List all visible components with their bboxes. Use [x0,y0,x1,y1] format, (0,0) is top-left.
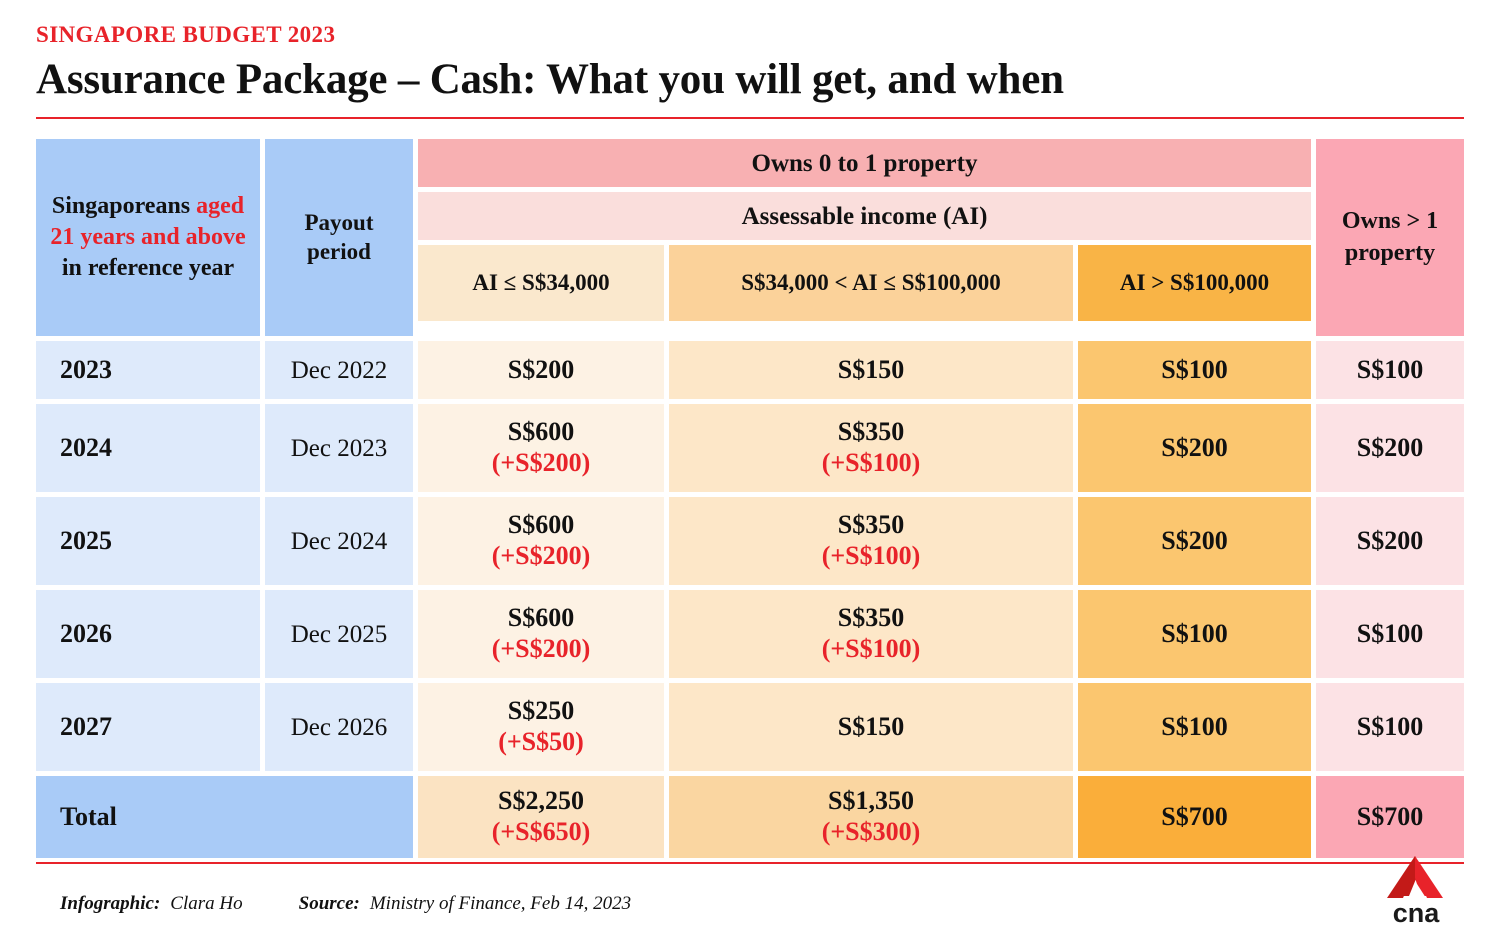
amount-increment: (+S$650) [492,817,591,848]
row-year: 2027 [36,683,260,771]
amount-main: S$150 [838,355,904,386]
kicker-label: SINGAPORE BUDGET 2023 [36,0,1464,48]
top-rule [36,117,1464,119]
row-amount-band-mid: S$350 (+S$100) [669,497,1073,585]
infographic-label: Infographic: [60,893,160,915]
col1-part1: Singaporeans [52,193,190,219]
income-band-header-high: AI > S$100,000 [1078,245,1311,321]
amount-main: S$350 [838,603,904,634]
row-payout-period: Dec 2022 [265,341,413,399]
amount-increment: (+S$300) [822,817,921,848]
row-amount-band-low: S$250 (+S$50) [418,683,664,771]
amount-main: S$350 [838,510,904,541]
amount-main: S$100 [1357,355,1423,386]
amount-main: S$250 [508,696,574,727]
row-amount-band-mid: S$350 (+S$100) [669,404,1073,492]
amount-main: S$200 [1161,526,1227,557]
source-credit: Source: Ministry of Finance, Feb 14, 202… [299,893,631,915]
amount-main: S$100 [1161,355,1227,386]
row-amount-multi-property: S$100 [1316,341,1464,399]
amount-main: S$100 [1357,619,1423,650]
income-band-header-low: AI ≤ S$34,000 [418,245,664,321]
total-label: Total [36,776,413,858]
row-amount-band-mid: S$150 [669,341,1073,399]
amount-main: S$100 [1161,712,1227,743]
amount-main: S$600 [508,417,574,448]
amount-increment: (+S$100) [822,448,921,479]
row-amount-band-mid: S$150 [669,683,1073,771]
total-amount-band-mid: S$1,350 (+S$300) [669,776,1073,858]
source-value: Ministry of Finance, Feb 14, 2023 [370,893,631,915]
row-amount-multi-property: S$100 [1316,590,1464,678]
group-subheader-assessable-income: Assessable income (AI) [418,192,1311,240]
amount-main: S$200 [1357,526,1423,557]
amount-main: S$600 [508,603,574,634]
cna-a-mark-icon [1387,856,1443,898]
amount-main: S$700 [1161,802,1227,833]
income-band-header-mid: S$34,000 < AI ≤ S$100,000 [669,245,1073,321]
row-amount-band-high: S$100 [1078,683,1311,771]
amount-main: S$100 [1161,619,1227,650]
footer-credits: Infographic: Clara Ho Source: Ministry o… [60,893,631,915]
row-year: 2024 [36,404,260,492]
row-payout-period: Dec 2024 [265,497,413,585]
infographic-credit: Infographic: Clara Ho [60,893,243,915]
column-header-payout-period: Payout period [265,139,413,336]
amount-increment: (+S$100) [822,634,921,665]
row-payout-period: Dec 2026 [265,683,413,771]
row-year: 2023 [36,341,260,399]
row-amount-band-mid: S$350 (+S$100) [669,590,1073,678]
row-amount-multi-property: S$200 [1316,404,1464,492]
amount-increment: (+S$200) [492,541,591,572]
income-band-headers: AI ≤ S$34,000 S$34,000 < AI ≤ S$100,000 … [418,245,1311,321]
column-header-singaporeans: Singaporeans aged 21 years and above in … [36,139,260,336]
amount-main: S$700 [1357,802,1423,833]
row-amount-band-high: S$100 [1078,590,1311,678]
row-amount-band-high: S$200 [1078,404,1311,492]
amount-main: S$350 [838,417,904,448]
cna-logo-svg: cna [1368,854,1464,926]
cna-wordmark: cna [1393,898,1441,926]
table-row: 2026 Dec 2025 S$600 (+S$200) S$350 (+S$1… [36,590,1464,678]
amount-main: S$150 [838,712,904,743]
table-row: 2024 Dec 2023 S$600 (+S$200) S$350 (+S$1… [36,404,1464,492]
amount-main: S$200 [508,355,574,386]
amount-main: S$600 [508,510,574,541]
col1-part3: in reference year [62,255,234,281]
row-amount-band-high: S$200 [1078,497,1311,585]
row-amount-band-low: S$600 (+S$200) [418,497,664,585]
row-payout-period: Dec 2023 [265,404,413,492]
source-label: Source: [299,893,360,915]
total-amount-band-high: S$700 [1078,776,1311,858]
amount-increment: (+S$200) [492,634,591,665]
total-amount-multi-property: S$700 [1316,776,1464,858]
row-year: 2025 [36,497,260,585]
amount-increment: (+S$100) [822,541,921,572]
amount-increment: (+S$200) [492,448,591,479]
amount-main: S$100 [1357,712,1423,743]
row-year: 2026 [36,590,260,678]
amount-main: S$2,250 [498,786,584,817]
total-amount-band-low: S$2,250 (+S$650) [418,776,664,858]
group-header-owns-0-to-1: Owns 0 to 1 property [418,139,1311,187]
row-amount-band-low: S$600 (+S$200) [418,404,664,492]
amount-main: S$200 [1161,433,1227,464]
table-row: 2027 Dec 2026 S$250 (+S$50) S$150 S$100 … [36,683,1464,771]
table-row: 2025 Dec 2024 S$600 (+S$200) S$350 (+S$1… [36,497,1464,585]
column-header-owns-more-than-1: Owns > 1 property [1316,139,1464,336]
row-amount-band-high: S$100 [1078,341,1311,399]
income-group-header: Owns 0 to 1 property Assessable income (… [418,139,1311,336]
infographic-page: SINGAPORE BUDGET 2023 Assurance Package … [0,0,1500,934]
bottom-rule [36,862,1464,864]
row-amount-band-low: S$200 [418,341,664,399]
row-payout-period: Dec 2025 [265,590,413,678]
row-amount-multi-property: S$200 [1316,497,1464,585]
row-amount-band-low: S$600 (+S$200) [418,590,664,678]
amount-main: S$200 [1357,433,1423,464]
page-title: Assurance Package – Cash: What you will … [36,55,1464,104]
row-amount-multi-property: S$100 [1316,683,1464,771]
table-header: Singaporeans aged 21 years and above in … [36,139,1464,336]
table-total-row: Total S$2,250 (+S$650) S$1,350 (+S$300) … [36,776,1464,858]
amount-main: S$1,350 [828,786,914,817]
infographic-value: Clara Ho [170,893,242,915]
amount-increment: (+S$50) [498,727,584,758]
cna-logo: cna [1368,854,1464,926]
table-row: 2023 Dec 2022 S$200 S$150 S$100 S$100 [36,341,1464,399]
payout-table: Singaporeans aged 21 years and above in … [36,139,1464,858]
